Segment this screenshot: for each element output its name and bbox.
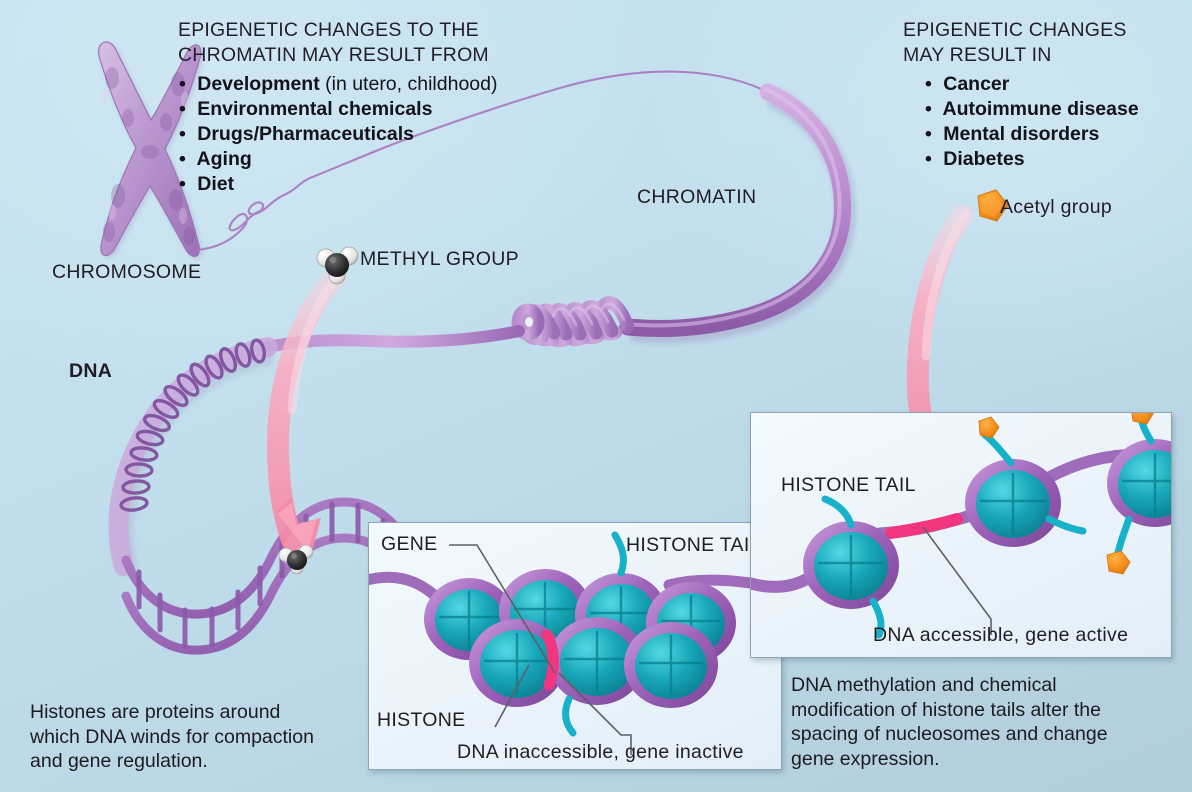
dna-label: DNA [69, 360, 112, 383]
histone-tail-lower [566, 699, 573, 733]
caption-right: DNA methylation and chemical modificatio… [791, 673, 1171, 771]
methyl-group-molecule-on-dna [279, 545, 313, 574]
acetyl-group-2 [1131, 412, 1154, 424]
nucleosome-3 [1107, 412, 1172, 574]
right-label-state: DNA accessible, gene active [873, 624, 1128, 647]
acetyl-group-1 [979, 417, 999, 438]
list-item: Autoimmune disease [925, 97, 1183, 122]
condensed-nucleosome-artwork [369, 523, 781, 769]
right-header-title: EPIGENETIC CHANGES MAY RESULT IN [903, 18, 1183, 67]
relaxed-nucleosome-artwork [751, 413, 1171, 657]
methyl-arrow [276, 272, 340, 556]
inset-panel-relaxed-chromatin [750, 412, 1172, 658]
caption-left: Histones are proteins around which DNA w… [30, 700, 375, 774]
chromatin-label: CHROMATIN [637, 186, 756, 209]
nucleosome-2 [965, 417, 1083, 547]
list-item: Cancer [925, 72, 1183, 97]
left-header-block: EPIGENETIC CHANGES TO THE CHROMATIN MAY … [178, 18, 598, 197]
methyl-group-label: METHYL GROUP [360, 248, 519, 271]
center-label-gene: GENE [381, 533, 437, 556]
diagram-canvas: GENE HISTONE TAIL HISTONE DNA inaccessib… [0, 0, 1192, 792]
histone-tail-upper [615, 535, 623, 573]
right-label-histone-tail: HISTONE TAIL [781, 474, 916, 497]
list-item: Development (in utero, childhood) [179, 72, 598, 97]
acetyl-group-legend-label: Acetyl group [1000, 196, 1112, 219]
list-item: Drugs/Pharmaceuticals [179, 122, 598, 147]
center-label-histone: HISTONE [377, 709, 465, 732]
center-label-histone-tail: HISTONE TAIL [626, 534, 761, 557]
nucleosome-1 [803, 499, 899, 635]
methyl-group-molecule-top [317, 247, 358, 284]
left-header-title: EPIGENETIC CHANGES TO THE CHROMATIN MAY … [178, 18, 598, 67]
gene-accessible-segment [891, 519, 957, 533]
chromatin-exit [268, 331, 519, 347]
left-header-bullets: Development (in utero, childhood) Enviro… [179, 72, 598, 197]
inset-panel-condensed-chromatin [368, 522, 782, 770]
nucleosome-bottom-row [469, 617, 718, 708]
histone-tail-acetylated-1 [985, 435, 1011, 463]
right-header-bullets: Cancer Autoimmune disease Mental disorde… [925, 72, 1183, 172]
center-label-state: DNA inaccessible, gene inactive [457, 741, 744, 764]
chromatin-fiber [625, 89, 845, 333]
chromosome-label: CHROMOSOME [52, 261, 201, 284]
chromatin-coil [517, 303, 628, 341]
list-item: Mental disorders [925, 122, 1183, 147]
acetyl-group-3 [1107, 551, 1130, 574]
list-item: Environmental chemicals [179, 97, 598, 122]
list-item: Diabetes [925, 147, 1183, 172]
list-item: Aging [179, 147, 598, 172]
list-item: Diet [179, 172, 598, 197]
accessible-leader [923, 527, 991, 635]
right-header-block: EPIGENETIC CHANGES MAY RESULT IN Cancer … [903, 18, 1183, 172]
